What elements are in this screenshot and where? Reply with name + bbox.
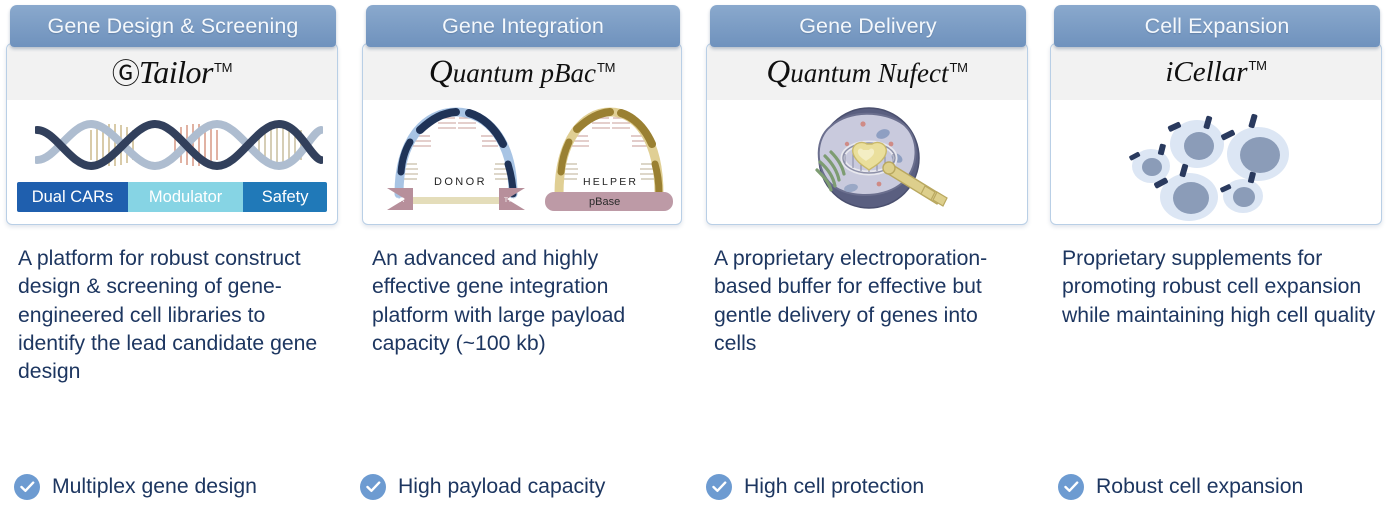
check-circle-icon <box>1058 474 1084 500</box>
card-body-cell-expansion: iCellarTM <box>1050 43 1382 225</box>
tir-left-label: TIR <box>392 197 405 204</box>
icellar-logo: iCellarTM <box>1165 56 1266 89</box>
dna-helix-svg <box>35 114 323 176</box>
check-circle-icon <box>706 474 732 500</box>
badge-label: Dual CARs <box>32 188 114 207</box>
card-header-title: Gene Design & Screening <box>48 14 299 39</box>
helper-label: HELPER <box>583 176 638 188</box>
logo-strip: Quantum pBacTM <box>363 44 681 100</box>
quantum-nufect-logo: Quantum NufectTM <box>766 54 967 91</box>
card-header-cell-expansion: Cell Expansion <box>1054 5 1380 47</box>
card-header-title: Cell Expansion <box>1145 14 1290 39</box>
card-body-gene-design-screening: ⒼTailorTM <box>6 43 338 225</box>
trademark-symbol: TM <box>949 60 967 75</box>
bullet-label: High cell protection <box>744 475 924 499</box>
dna-helix-graphic <box>35 114 323 181</box>
trademark-symbol: TM <box>597 60 615 75</box>
trademark-symbol: TM <box>214 60 232 75</box>
description-gene-integration: An advanced and highly effective gene in… <box>360 245 684 358</box>
quantum-q-glyph: Q <box>429 54 453 90</box>
donor-label: DONOR <box>434 176 487 188</box>
logo-strip: Quantum NufectTM <box>707 44 1027 100</box>
bullet-gene-delivery: High cell protection <box>706 474 924 500</box>
quantum-pbac-logo: Quantum pBacTM <box>429 54 615 91</box>
badge-label: Safety <box>262 188 309 207</box>
gtailor-wordmark: Tailor <box>139 54 213 90</box>
trademark-symbol: TM <box>1249 58 1267 73</box>
card-header-title: Gene Integration <box>442 14 604 39</box>
card-header-gene-delivery: Gene Delivery <box>710 5 1026 47</box>
bullet-cell-expansion: Robust cell expansion <box>1058 474 1303 500</box>
platform-overview-board: Gene Design & Screening ⒼTailorTM <box>0 0 1392 518</box>
donor-helper-svg: TIR TIR DONOR <box>377 102 677 222</box>
card-gene-delivery[interactable]: Gene Delivery Quantum NufectTM <box>704 0 1030 225</box>
logo-strip: iCellarTM <box>1051 44 1381 100</box>
cell-small-left <box>1129 143 1170 183</box>
bullet-label: High payload capacity <box>398 475 605 499</box>
card-body-gene-delivery: Quantum NufectTM <box>706 43 1028 225</box>
pbase-label: pBase <box>589 196 620 208</box>
description-gene-design-screening: A platform for robust construct design &… <box>4 245 340 386</box>
card-gene-design-screening[interactable]: Gene Design & Screening ⒼTailorTM <box>4 0 340 225</box>
bullet-gene-integration: High payload capacity <box>360 474 605 500</box>
description-gene-delivery: A proprietary electroporation-based buff… <box>704 245 1030 358</box>
quantum-pbac-wordmark: uantum pBac <box>453 58 596 88</box>
badge-dual-cars[interactable]: Dual CARs <box>17 182 128 212</box>
cell-large-right <box>1220 113 1289 181</box>
badge-modulator[interactable]: Modulator <box>128 182 243 212</box>
column-cell-expansion: Cell Expansion iCellarTM <box>1044 0 1392 518</box>
check-circle-icon <box>14 474 40 500</box>
card-body-gene-integration: Quantum pBacTM <box>362 43 682 225</box>
bullet-gene-design-screening: Multiplex gene design <box>14 474 257 500</box>
cell-mid-upper-left <box>1167 115 1224 168</box>
column-gene-design-screening: Gene Design & Screening ⒼTailorTM <box>0 0 348 518</box>
feature-badge-strip: Dual CARs Modulator Safety <box>17 182 327 212</box>
card-header-title: Gene Delivery <box>799 14 937 39</box>
logo-strip: ⒼTailorTM <box>7 44 337 100</box>
gtailor-logo: ⒼTailorTM <box>112 52 232 92</box>
card-gene-integration[interactable]: Gene Integration Quantum pBacTM <box>360 0 684 225</box>
bullet-label: Robust cell expansion <box>1096 475 1303 499</box>
quantum-q-glyph: Q <box>766 54 790 90</box>
card-cell-expansion[interactable]: Cell Expansion iCellarTM <box>1048 0 1384 225</box>
quantum-nufect-wordmark: uantum Nufect <box>790 58 948 88</box>
card-header-gene-design-screening: Gene Design & Screening <box>10 5 336 47</box>
donor-helper-plasmid-icon: TIR TIR DONOR <box>363 100 681 225</box>
gtailor-g-glyph: Ⓖ <box>112 57 139 90</box>
tir-right-label: TIR <box>504 197 517 204</box>
expanding-cells-icon <box>1051 100 1381 225</box>
icellar-wordmark: Cellar <box>1173 56 1247 88</box>
bullet-label: Multiplex gene design <box>52 475 257 499</box>
card-header-gene-integration: Gene Integration <box>366 5 680 47</box>
check-circle-icon <box>360 474 386 500</box>
badge-safety[interactable]: Safety <box>243 182 327 212</box>
column-gene-delivery: Gene Delivery Quantum NufectTM <box>696 0 1044 518</box>
badge-label: Modulator <box>149 188 222 207</box>
cell-with-key-icon <box>707 100 1027 225</box>
column-gene-integration: Gene Integration Quantum pBacTM <box>348 0 696 518</box>
description-cell-expansion: Proprietary supplements for promoting ro… <box>1048 245 1384 330</box>
cells-svg <box>1121 102 1321 222</box>
dna-double-helix-icon: Dual CARs Modulator Safety <box>7 100 337 225</box>
cell-key-svg <box>787 100 977 220</box>
